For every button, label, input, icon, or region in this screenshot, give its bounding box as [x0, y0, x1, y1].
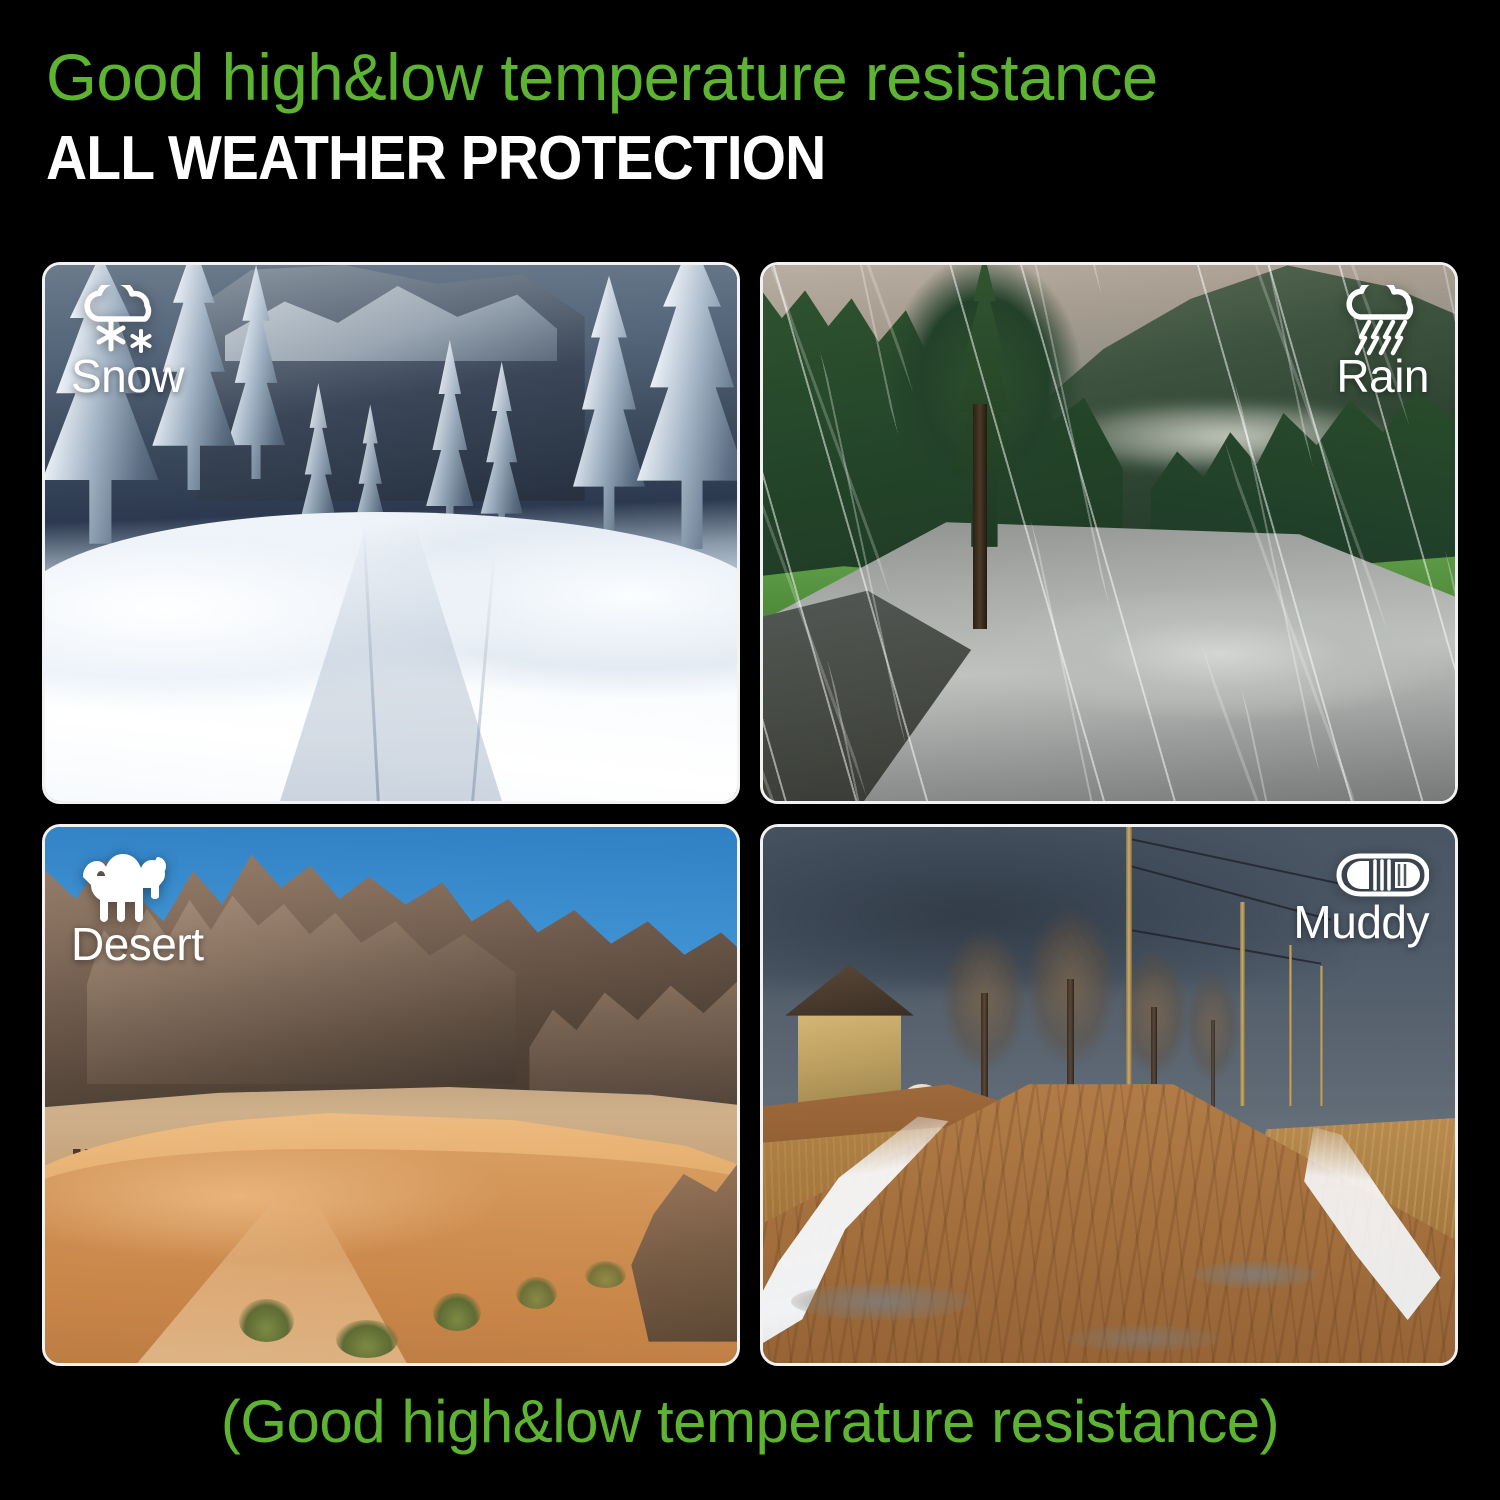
panel-label-snow: Snow: [71, 353, 184, 399]
header-block: Good high&low temperature resistance ALL…: [46, 44, 1466, 191]
tagline: Good high&low temperature resistance: [46, 44, 1452, 110]
cloud-snow-icon: [71, 285, 167, 357]
cloud-rain-icon: [1333, 285, 1429, 357]
panel-label-rain: Rain: [1336, 353, 1429, 399]
panel-desert[interactable]: Desert: [42, 824, 740, 1366]
weather-panel-grid: Snow: [42, 262, 1458, 1366]
panel-label-desert: Desert: [71, 921, 203, 967]
panel-muddy[interactable]: Muddy: [760, 824, 1458, 1366]
page-title: ALL WEATHER PROTECTION: [46, 126, 1352, 191]
panel-snow[interactable]: Snow: [42, 262, 740, 804]
badge-rain: Rain: [1333, 285, 1429, 399]
badge-desert: Desert: [71, 847, 203, 967]
badge-snow: Snow: [71, 285, 184, 399]
panel-rain[interactable]: Rain: [760, 262, 1458, 804]
badge-muddy: Muddy: [1293, 847, 1429, 945]
footer-caption: (Good high&low temperature resistance): [0, 1392, 1500, 1452]
boot-tread-icon: [1317, 847, 1429, 903]
panel-label-muddy: Muddy: [1293, 899, 1429, 945]
camel-icon: [71, 847, 173, 925]
